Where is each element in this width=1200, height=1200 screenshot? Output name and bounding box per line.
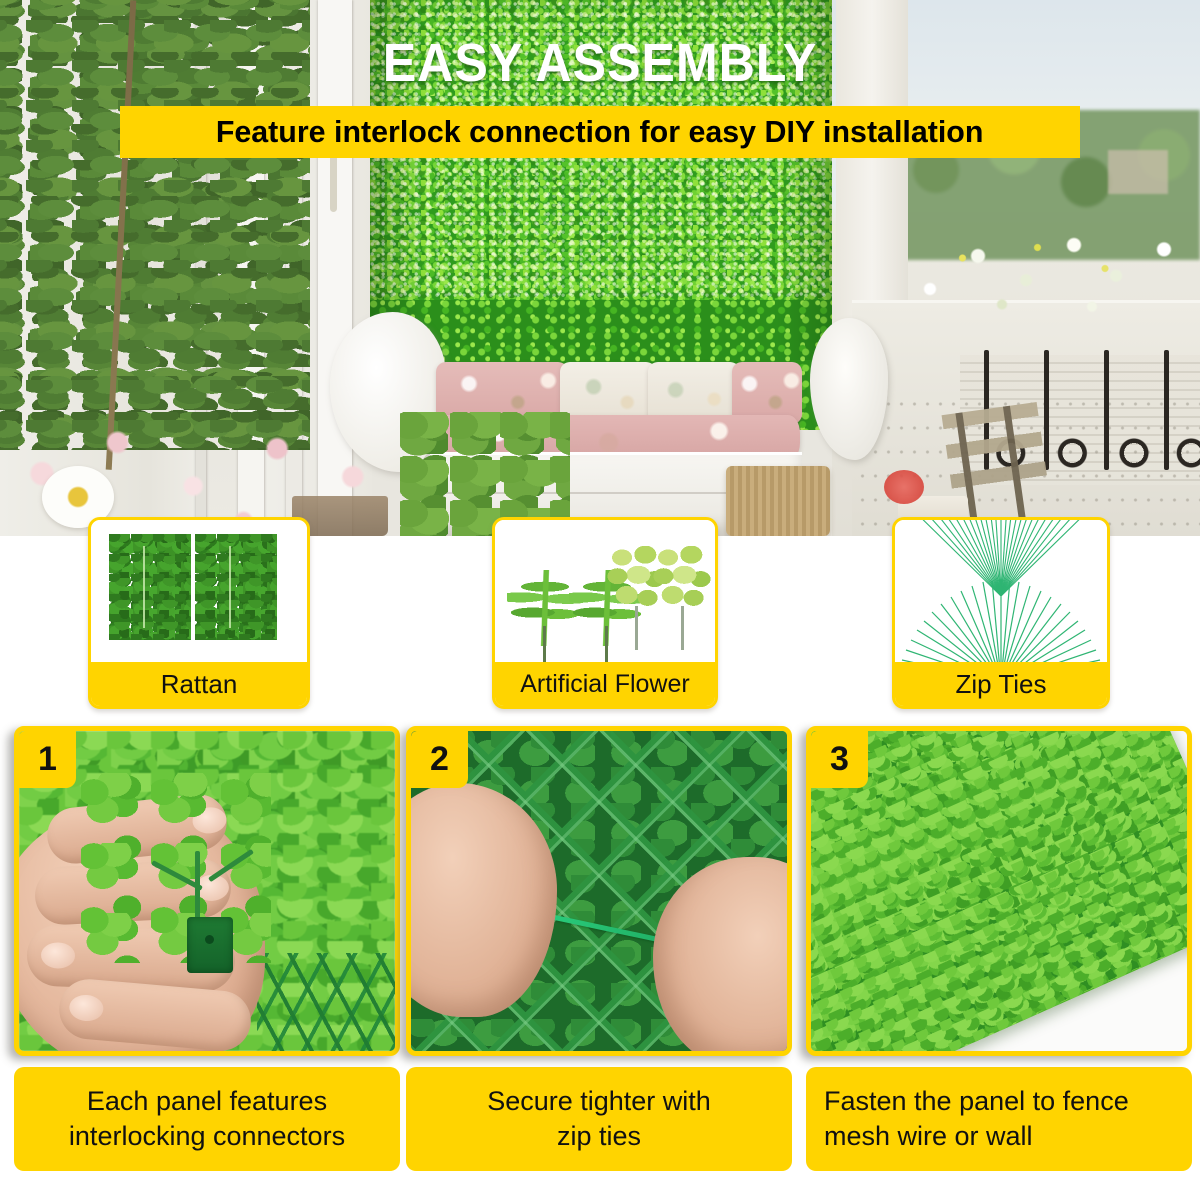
step-2-caption: Secure tighter with zip ties [406,1067,792,1171]
accessory-card-zip-ties: Zip Ties [892,517,1110,709]
white-cushion [810,318,888,460]
step-number-badge-1: 1 [19,731,76,788]
distant-building [1108,150,1168,194]
caption-line: mesh wire or wall [824,1119,1033,1154]
rattan-image [91,520,307,662]
ivy-vine-icon [109,534,191,640]
accessory-label-rattan: Rattan [91,662,307,706]
caption-line: Fasten the panel to fence [824,1084,1129,1119]
accessory-label-zip-ties: Zip Ties [895,662,1107,706]
page-title: EASY ASSEMBLY [42,32,1158,94]
artificial-flower-image [495,520,715,662]
hero-banner: EASY ASSEMBLY Feature interlock connecti… [0,0,1200,536]
infographic-page: EASY ASSEMBLY Feature interlock connecti… [0,0,1200,1200]
caption-line: zip ties [557,1119,641,1154]
step-number-badge-2: 2 [411,731,468,788]
caption-line: Secure tighter with [487,1084,711,1119]
green-grid-backing [257,953,400,1056]
interlocking-connector [187,917,233,973]
step-3-caption: Fasten the panel to fence mesh wire or w… [806,1067,1192,1171]
red-flower [884,470,924,504]
step-number-badge-3: 3 [811,731,868,788]
caption-line: interlocking connectors [69,1119,345,1154]
step-card-2: 2 Secure tighter with zip ties [406,726,792,1192]
ivy-vine-icon [195,534,277,640]
zip-tie-fan-icon [896,566,1106,662]
step-1-caption: Each panel features interlocking connect… [14,1067,400,1171]
caption-line: Each panel features [87,1084,327,1119]
leaf-sprig [81,773,271,963]
subtitle-banner: Feature interlock connection for easy DI… [120,106,1080,158]
zip-ties-image [895,520,1107,662]
yellow-balcony-flowers [925,230,1175,300]
step-1-photo: 1 [14,726,400,1056]
subtitle-text: Feature interlock connection for easy DI… [216,114,984,150]
accessory-label-artificial-flower: Artificial Flower [495,662,715,706]
window-handle-icon [330,150,337,212]
step-2-photo: 2 [406,726,792,1056]
step-card-1: 1 Each panel features interlocking conne… [14,726,400,1192]
accessory-card-rattan: Rattan [88,517,310,709]
step-3-photo: 3 [806,726,1192,1056]
step-card-3: 3 Fasten the panel to fence mesh wire or… [806,726,1192,1192]
accessory-card-artificial-flower: Artificial Flower [492,517,718,709]
wicker-basket [726,466,830,536]
